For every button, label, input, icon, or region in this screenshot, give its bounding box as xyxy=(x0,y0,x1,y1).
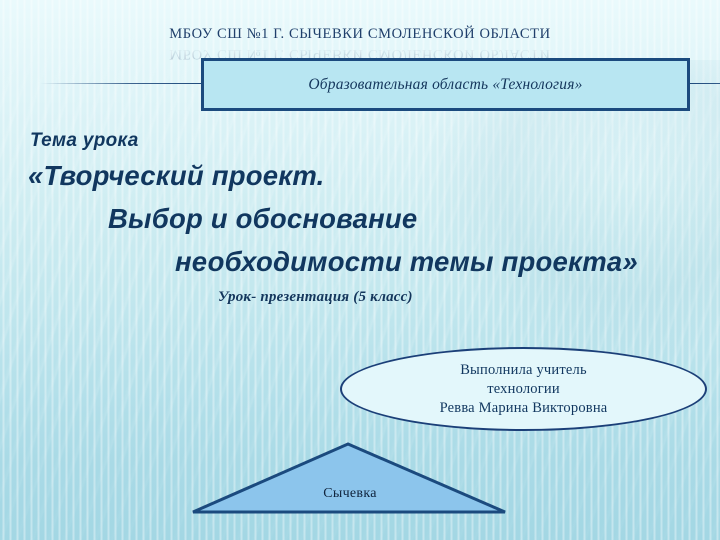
lesson-title-line-2: Выбор и обоснование xyxy=(108,197,720,240)
lesson-title-line-1: «Творческий проект. xyxy=(28,154,720,197)
triangle-icon xyxy=(186,436,514,522)
decorative-rule-left xyxy=(40,83,205,84)
lesson-format-subtitle: Урок- презентация (5 класс) xyxy=(218,289,720,306)
lesson-topic-label: Тема урока xyxy=(30,128,720,154)
author-line-2: технологии xyxy=(487,380,560,399)
slide-body: Тема урока «Творческий проект. Выбор и о… xyxy=(0,128,720,306)
decorative-rule-right xyxy=(688,83,720,84)
author-line-3: Ревва Марина Викторовна xyxy=(440,399,608,418)
presentation-slide: МБОУ СШ №1 Г. СЫЧЕВКИ СМОЛЕНСКОЙ ОБЛАСТИ… xyxy=(0,0,720,540)
subject-area-box: Образовательная область «Технология» xyxy=(201,58,690,111)
school-name-heading: МБОУ СШ №1 Г. СЫЧЕВКИ СМОЛЕНСКОЙ ОБЛАСТИ xyxy=(0,26,720,43)
town-triangle-shape: Сычевка xyxy=(186,436,514,522)
author-line-1: Выполнила учитель xyxy=(460,361,587,380)
author-oval-shape: Выполнила учитель технологии Ревва Марин… xyxy=(340,347,707,431)
subject-area-label: Образовательная область «Технология» xyxy=(308,76,582,94)
lesson-title-line-3: необходимости темы проекта» xyxy=(175,240,720,283)
